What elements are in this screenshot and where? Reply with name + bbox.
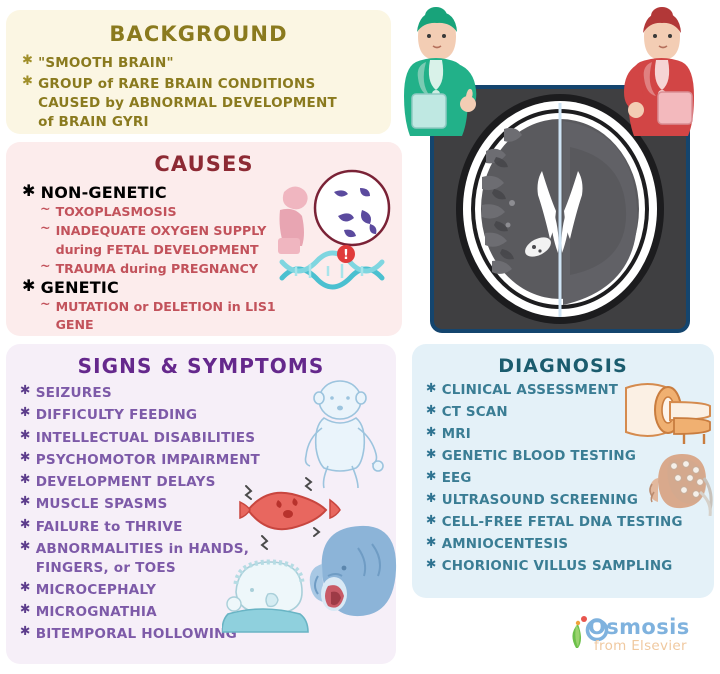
causes-heading: CAUSES: [6, 152, 402, 176]
causes-panel: CAUSES ✱ NON-GENETIC ~ TOXOPLASMOSIS ~ I…: [6, 142, 402, 336]
list-item-label: MUSCLE SPASMS: [36, 495, 288, 514]
signs-symptoms-list: ✱ SEIZURES ✱ DIFFICULTY FEEDING ✱ INTELL…: [20, 384, 288, 644]
asterisk-bullet-icon: ✱: [20, 540, 31, 553]
list-item: ✱ MRI: [426, 426, 704, 445]
list-item: ~ TRAUMA during PREGNANCY: [40, 260, 312, 278]
list-item-label: MRI: [442, 426, 704, 445]
diagnosis-list: ✱ CLINICAL ASSESSMENT ✱ CT SCAN ✱ MRI ✱ …: [426, 382, 704, 577]
list-item-label: INTELLECTUAL DISABILITIES: [36, 429, 288, 448]
list-item-label: BITEMPORAL HOLLOWING: [36, 625, 288, 644]
tilde-bullet-icon: ~: [40, 203, 51, 216]
signs-symptoms-panel: SIGNS & SYMPTOMS ✱ SEIZURES ✱ DIFFICULTY…: [6, 344, 396, 664]
list-item: ✱ INTELLECTUAL DISABILITIES: [20, 429, 288, 448]
list-item: ✱ MICROGNATHIA: [20, 603, 288, 622]
asterisk-bullet-icon: ✱: [426, 558, 437, 571]
list-item: ~ TOXOPLASMOSIS: [40, 203, 312, 221]
asterisk-bullet-icon: ✱: [20, 518, 31, 531]
background-list: ✱ "SMOOTH BRAIN" ✱ GROUP of RARE BRAIN C…: [22, 54, 352, 133]
list-item-label: MICROGNATHIA: [36, 603, 288, 622]
list-item: ✱ GENETIC: [22, 278, 312, 297]
list-item: ✱ AMNIOCENTESIS: [426, 536, 704, 555]
asterisk-bullet-icon: ✱: [20, 581, 31, 594]
asterisk-bullet-icon: ✱: [20, 473, 31, 486]
list-item-label: CELL-FREE FETAL DNA TESTING: [442, 514, 704, 533]
list-item: ✱ ULTRASOUND SCREENING: [426, 492, 704, 511]
list-item-label: NON-GENETIC: [41, 183, 312, 202]
list-item-label: GROUP of RARE BRAIN CONDITIONS CAUSED by…: [38, 75, 352, 132]
list-item: ✱ CHORIONIC VILLUS SAMPLING: [426, 558, 704, 577]
list-item: ✱ FAILURE to THRIVE: [20, 518, 288, 537]
asterisk-bullet-icon: ✱: [20, 603, 31, 616]
list-item: ✱ DIFFICULTY FEEDING: [20, 406, 288, 425]
background-panel: BACKGROUND ✱ "SMOOTH BRAIN" ✱ GROUP of R…: [6, 10, 391, 134]
asterisk-bullet-icon: ✱: [20, 451, 31, 464]
causes-group-non-genetic: ✱ NON-GENETIC ~ TOXOPLASMOSIS ~ INADEQUA…: [22, 183, 312, 278]
asterisk-bullet-icon: ✱: [426, 470, 437, 483]
asterisk-bullet-icon: ✱: [426, 448, 437, 461]
osmosis-wordmark: Osmosis: [588, 615, 690, 639]
list-item: ~ MUTATION or DELETION in LIS1 GENE: [40, 298, 312, 335]
list-item: ✱ MICROCEPHALY: [20, 581, 288, 600]
list-item-label: ABNORMALITIES in HANDS, FINGERS, or TOES: [36, 540, 288, 578]
asterisk-bullet-icon: ✱: [20, 495, 31, 508]
causes-group-genetic: ✱ GENETIC ~ MUTATION or DELETION in LIS1…: [22, 278, 312, 335]
asterisk-bullet-icon: ✱: [22, 278, 36, 294]
list-item: ✱ CELL-FREE FETAL DNA TESTING: [426, 514, 704, 533]
list-item: ✱ BITEMPORAL HOLLOWING: [20, 625, 288, 644]
asterisk-bullet-icon: ✱: [426, 426, 437, 439]
list-item-label: GENETIC BLOOD TESTING: [442, 448, 704, 467]
asterisk-bullet-icon: ✱: [426, 492, 437, 505]
ct-brain-scan-lissencephaly-image: [430, 85, 690, 333]
list-item-label: DIFFICULTY FEEDING: [36, 406, 288, 425]
osmosis-logo: Osmosis from Elsevier: [562, 614, 714, 664]
asterisk-bullet-icon: ✱: [20, 384, 31, 397]
background-heading: BACKGROUND: [6, 22, 391, 46]
list-item: ✱ GENETIC BLOOD TESTING: [426, 448, 704, 467]
causes-list: ✱ NON-GENETIC ~ TOXOPLASMOSIS ~ INADEQUA…: [22, 183, 312, 335]
tilde-bullet-icon: ~: [40, 298, 51, 311]
asterisk-bullet-icon: ✱: [22, 54, 33, 67]
osmosis-subtitle: from Elsevier: [594, 638, 687, 654]
osmosis-leaf-icon: [572, 616, 587, 648]
list-item-label: PSYCHOMOTOR IMPAIRMENT: [36, 451, 288, 470]
list-item: ✱ NON-GENETIC: [22, 183, 312, 202]
diagnosis-heading: DIAGNOSIS: [412, 355, 714, 377]
asterisk-bullet-icon: ✱: [426, 404, 437, 417]
signs-symptoms-heading: SIGNS & SYMPTOMS: [6, 354, 396, 378]
tilde-bullet-icon: ~: [40, 260, 51, 273]
list-item-label: EEG: [442, 470, 704, 489]
list-item: ✱ SEIZURES: [20, 384, 288, 403]
list-item-label: CLINICAL ASSESSMENT: [442, 382, 704, 401]
list-item: ~ INADEQUATE OXYGEN SUPPLY during FETAL …: [40, 222, 312, 259]
list-item: ✱ PSYCHOMOTOR IMPAIRMENT: [20, 451, 288, 470]
list-item: ✱ DEVELOPMENT DELAYS: [20, 473, 288, 492]
diagnosis-panel: DIAGNOSIS ✱ CLINICAL ASSESSMENT ✱ CT SCA…: [412, 344, 714, 598]
list-item: ✱ CLINICAL ASSESSMENT: [426, 382, 704, 401]
list-item: ✱ CT SCAN: [426, 404, 704, 423]
list-item: ✱ EEG: [426, 470, 704, 489]
nurse-red-scrubs-illustration: [600, 2, 710, 147]
list-item-label: DEVELOPMENT DELAYS: [36, 473, 288, 492]
list-item-label: TOXOPLASMOSIS: [56, 203, 312, 221]
list-item-label: FAILURE to THRIVE: [36, 518, 288, 537]
list-item: ✱ "SMOOTH BRAIN": [22, 54, 352, 73]
infographic-root: BACKGROUND ✱ "SMOOTH BRAIN" ✱ GROUP of R…: [0, 0, 720, 674]
list-item-label: INADEQUATE OXYGEN SUPPLY during FETAL DE…: [56, 222, 312, 259]
list-item-label: SEIZURES: [36, 384, 288, 403]
asterisk-bullet-icon: ✱: [20, 625, 31, 638]
asterisk-bullet-icon: ✱: [20, 429, 31, 442]
asterisk-bullet-icon: ✱: [426, 382, 437, 395]
list-item-label: MUTATION or DELETION in LIS1 GENE: [56, 298, 312, 335]
asterisk-bullet-icon: ✱: [426, 536, 437, 549]
asterisk-bullet-icon: ✱: [22, 75, 33, 88]
list-item: ✱ MUSCLE SPASMS: [20, 495, 288, 514]
asterisk-bullet-icon: ✱: [22, 183, 36, 199]
list-item-label: ULTRASOUND SCREENING: [442, 492, 704, 511]
tilde-bullet-icon: ~: [40, 222, 51, 235]
list-item-label: CT SCAN: [442, 404, 704, 423]
list-item: ✱ GROUP of RARE BRAIN CONDITIONS CAUSED …: [22, 75, 352, 132]
list-item-label: GENETIC: [41, 278, 312, 297]
nurse-green-scrubs-illustration: [392, 2, 502, 147]
list-item-label: CHORIONIC VILLUS SAMPLING: [442, 558, 704, 577]
asterisk-bullet-icon: ✱: [426, 514, 437, 527]
asterisk-bullet-icon: ✱: [20, 406, 31, 419]
list-item-label: AMNIOCENTESIS: [442, 536, 704, 555]
list-item-label: TRAUMA during PREGNANCY: [56, 260, 312, 278]
list-item: ✱ ABNORMALITIES in HANDS, FINGERS, or TO…: [20, 540, 288, 578]
list-item-label: MICROCEPHALY: [36, 581, 288, 600]
list-item-label: "SMOOTH BRAIN": [38, 54, 352, 73]
